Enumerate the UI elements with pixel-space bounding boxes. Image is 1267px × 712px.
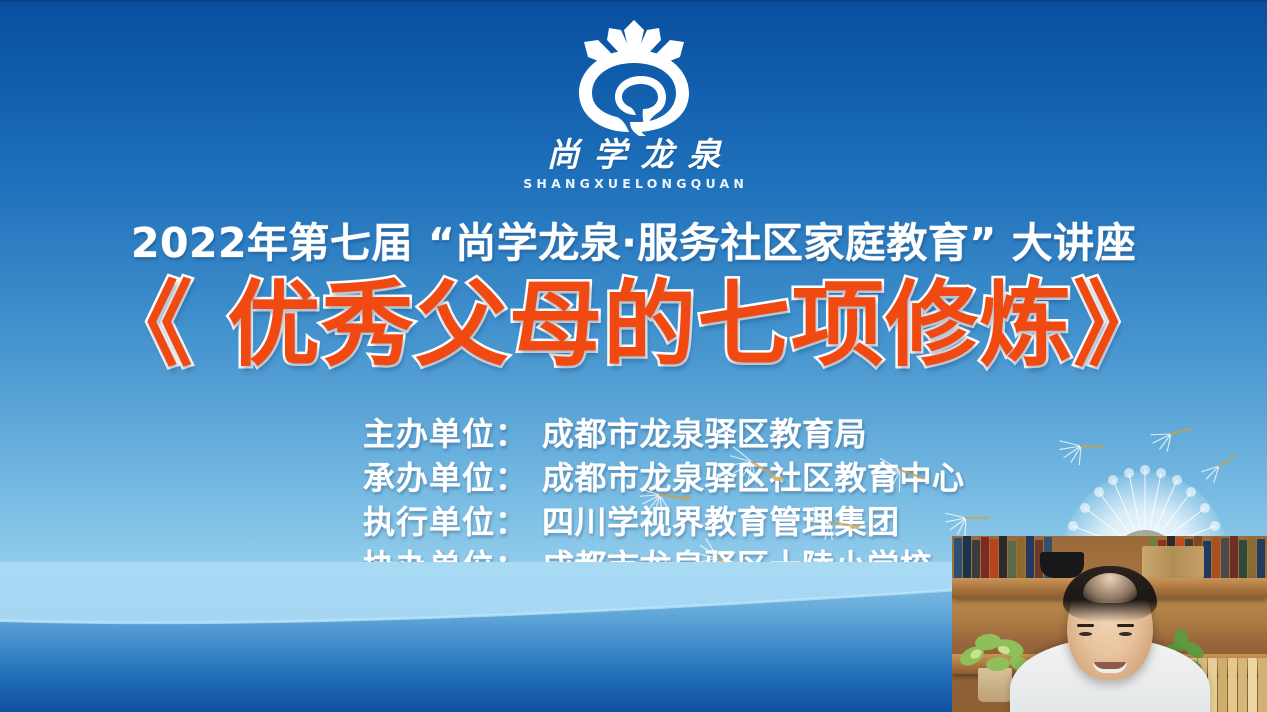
organizer-row: 承办单位： 成都市龙泉驿区社区教育中心	[363, 456, 965, 500]
speaker-eye-left	[1079, 632, 1092, 636]
organizer-row: 执行单位： 四川学视界教育管理集团	[363, 500, 965, 544]
speaker-portrait	[952, 536, 1267, 712]
speaker-eyebrow-right	[1117, 624, 1134, 627]
organizer-value: 四川学视界教育管理集团	[542, 500, 900, 544]
speaker-eye-right	[1119, 632, 1132, 636]
speaker-hair	[1063, 566, 1157, 622]
brand-name-en: SHANGXUELONGQUAN	[519, 176, 748, 191]
shangxue-longquan-emblem-icon	[559, 18, 709, 136]
speaker-webcam-feed[interactable]	[952, 536, 1267, 712]
organizer-value: 成都市龙泉驿区社区教育中心	[542, 456, 965, 500]
presentation-slide: 尚学龙泉 SHANGXUELONGQUAN 2022年第七届 “尚学龙泉·服务社…	[0, 0, 1267, 712]
event-subtitle: 2022年第七届 “尚学龙泉·服务社区家庭教育” 大讲座	[0, 209, 1267, 269]
organizer-label: 主办单位：	[363, 412, 528, 456]
brand-logo-block: 尚学龙泉 SHANGXUELONGQUAN	[0, 18, 1267, 191]
brand-name-cn: 尚学龙泉	[533, 138, 735, 173]
lecture-main-title: 《 优秀父母的七项修炼》	[0, 277, 1267, 375]
organizer-row: 主办单位： 成都市龙泉驿区教育局	[363, 412, 965, 456]
organizer-label: 执行单位：	[363, 500, 528, 544]
speaker-eyebrow-left	[1077, 624, 1094, 627]
top-edge-line	[0, 0, 1267, 2]
webcam-scene	[952, 536, 1267, 712]
organizer-label: 承办单位：	[363, 456, 528, 500]
organizer-value: 成都市龙泉驿区教育局	[542, 412, 867, 456]
